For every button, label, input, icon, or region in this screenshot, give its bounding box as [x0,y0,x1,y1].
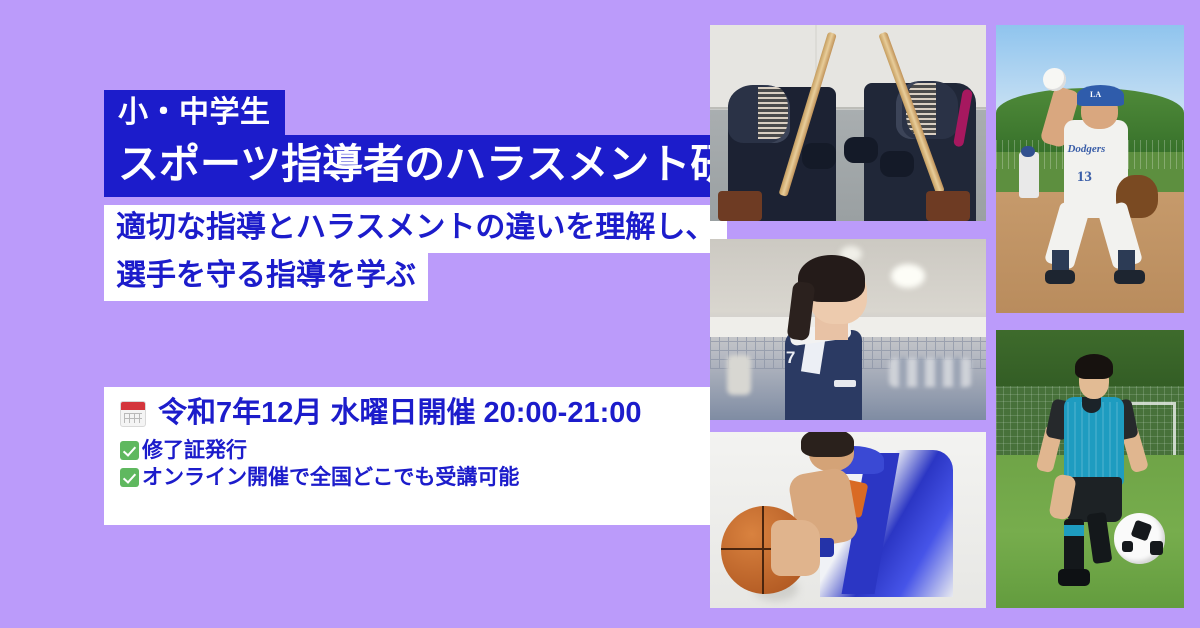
list-item-label: オンライン開催で全国どこでも受講可能 [142,467,519,488]
baseball-jersey-number: 13 [1077,169,1092,186]
check-box-icon [120,468,139,487]
baseball-photo: Dodgers 13 LA [996,25,1184,313]
soccer-sock-band [1064,525,1085,536]
kendo-waist-guard [718,191,762,221]
baseball-team-name: Dodgers [1067,143,1105,155]
volleyball-jersey-number: 7 [786,348,795,368]
volleyball-background-person [727,355,752,395]
baseball-ball [1043,68,1066,91]
baseball-cap-logo: LA [1090,90,1101,99]
list-item-label: 修了証発行 [142,440,247,461]
kendo-photo [710,25,986,221]
baseball-background-player-cap [1021,146,1034,158]
kendo-glove [880,151,914,177]
kendo-waist-guard [926,191,970,221]
feature-list: 修了証発行 オンライン開催で全国どこでも受講可能 [120,440,710,488]
soccer-photo [996,330,1184,608]
baseball-background-player [1019,152,1040,198]
seminar-banner: 小・中学生 スポーツ指導者のハラスメント研修 適切な指導とハラスメントの違いを理… [0,0,1200,628]
calendar-icon [120,401,146,427]
basketball-photo [710,432,986,608]
volleyball-background-bleachers [889,358,972,387]
page-title: スポーツ指導者のハラスメント研修 [104,135,784,197]
kendo-glove [844,137,878,163]
kendo-glove [802,143,836,169]
eyebrow-badge: 小・中学生 [104,90,285,138]
event-date-text: 令和7年12月 水曜日開催 20:00-21:00 [158,399,642,428]
volleyball-photo: 7 [710,239,986,420]
baseball-cleat-left [1045,270,1075,284]
info-box: 令和7年12月 水曜日開催 20:00-21:00 修了証発行 オンライン開催で… [104,387,710,525]
event-date-row: 令和7年12月 水曜日開催 20:00-21:00 [120,399,710,428]
baseball-cleat-right [1114,270,1144,284]
soccer-jersey-stripes [1067,402,1120,480]
subtitle-line-1: 適切な指導とハラスメントの違いを理解し、 [104,205,727,253]
basketball-hand [771,520,821,576]
basketball-ball-seam [762,506,764,594]
subtitle-line-2: 選手を守る指導を学ぶ [104,253,428,301]
soccer-player-hair [1075,354,1113,379]
soccer-ball-panel [1150,541,1163,555]
basketball-player-hair [801,432,853,457]
soccer-boot [1058,569,1090,586]
kendo-grill-left [758,87,788,139]
list-item: 修了証発行 [120,440,710,461]
check-box-icon [120,441,139,460]
volleyball-armband [834,380,856,387]
list-item: オンライン開催で全国どこでも受講可能 [120,467,710,488]
soccer-ball-panel [1122,541,1133,552]
subtitle: 適切な指導とハラスメントの違いを理解し、 選手を守る指導を学ぶ [104,205,727,301]
